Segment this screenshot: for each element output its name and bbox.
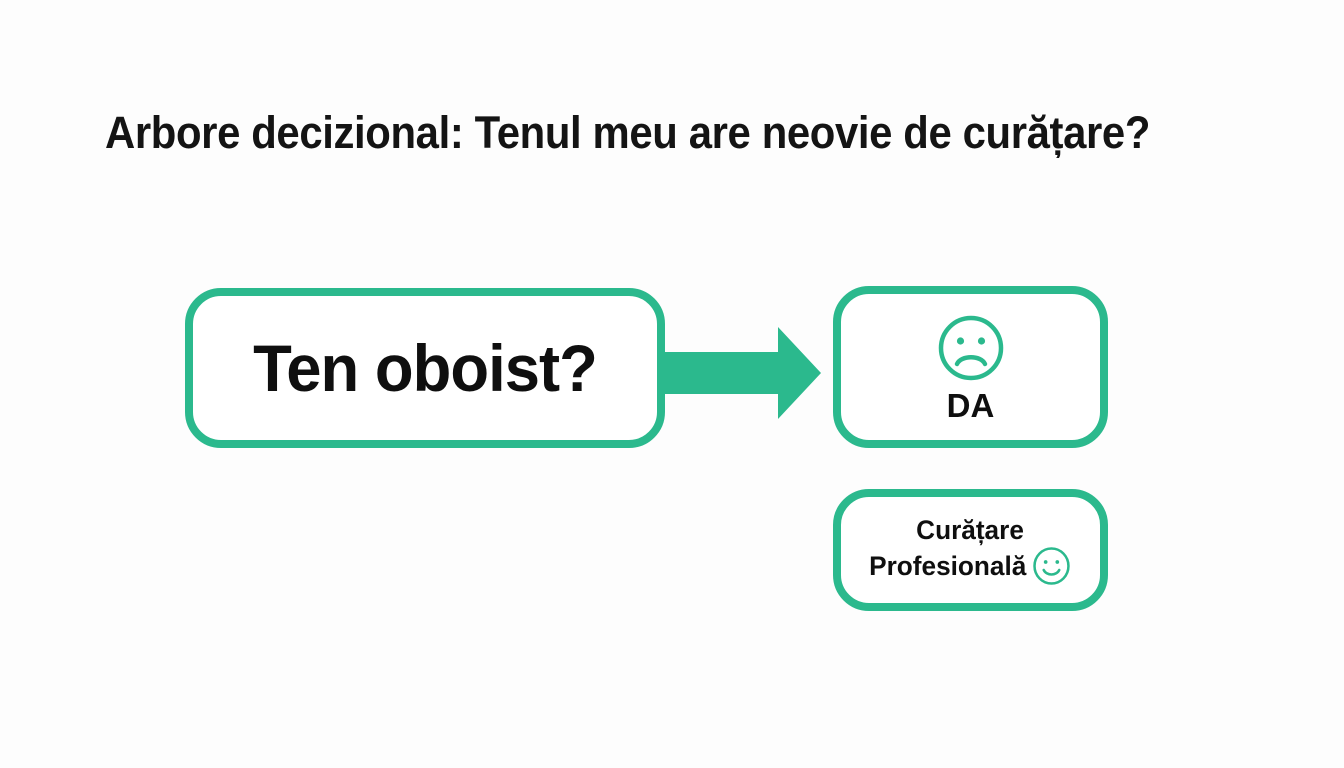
outcome-line-1: Curățare <box>870 514 1072 547</box>
right-arrow-glyph <box>661 322 823 424</box>
outcome-line-2: Profesională <box>870 550 1027 583</box>
decision-node-question-label: Ten oboist? <box>253 335 597 401</box>
answer-node-yes[interactable]: DA <box>833 286 1108 448</box>
outcome-line-2-row: Profesională <box>870 546 1072 586</box>
outcome-node-professional-cleaning[interactable]: Curățare Profesională <box>833 489 1108 611</box>
answer-node-yes-label: DA <box>947 389 995 422</box>
diagram-canvas: Arbore decizional: Tenul meu are neovie … <box>0 0 1344 768</box>
happy-face-icon <box>1033 546 1072 586</box>
sad-face-glyph <box>936 313 1006 383</box>
page-title: Arbore decizional: Tenul meu are neovie … <box>105 108 1165 158</box>
decision-node-question[interactable]: Ten oboist? <box>185 288 665 448</box>
outcome-node-text: Curățare Profesională <box>870 514 1072 587</box>
right-arrow-icon <box>661 322 823 424</box>
sad-face-icon <box>936 313 1006 383</box>
happy-face-glyph <box>1033 546 1072 586</box>
